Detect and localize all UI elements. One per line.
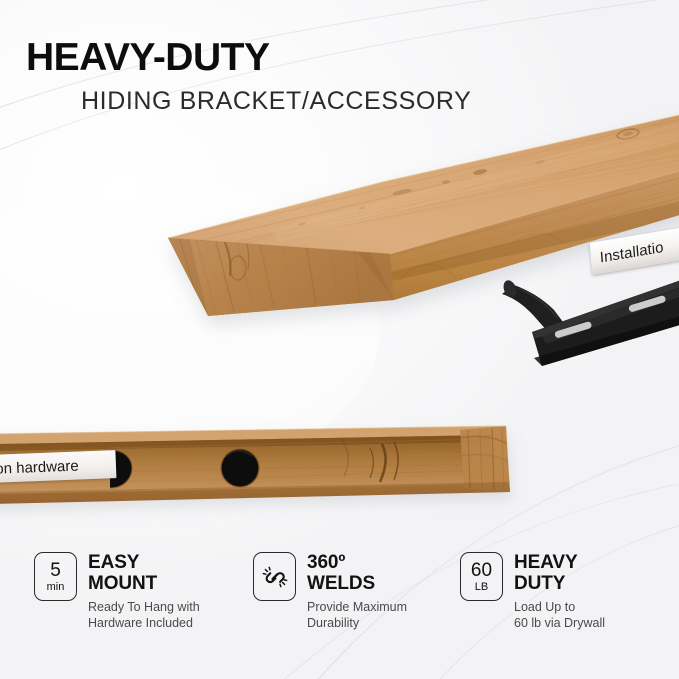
timer-badge-unit: min — [47, 582, 65, 593]
feature-title-line1: 360º — [307, 553, 407, 574]
headline-secondary: HIDING BRACKET/ACCESSORY — [81, 89, 471, 114]
feature-title-line2: WELDS — [307, 574, 407, 595]
feature-title-line2: DUTY — [514, 574, 605, 595]
timer-badge-value: 5 — [50, 561, 61, 580]
feature-desc-line1: Ready To Hang with — [88, 600, 200, 616]
headline-primary: HEAVY-DUTY — [26, 38, 471, 77]
feature-description: Provide Maximum Durability — [307, 600, 407, 631]
chain-link-weld-icon — [254, 553, 295, 600]
feature-heavy-duty: 60 LB HEAVY DUTY Load Up to 60 lb via Dr… — [460, 552, 660, 631]
feature-desc-line1: Load Up to — [514, 600, 605, 616]
weight-badge-value: 60 — [471, 561, 492, 580]
feature-desc-line1: Provide Maximum — [307, 600, 407, 616]
feature-title-line1: HEAVY — [514, 553, 605, 574]
feature-desc-line2: Durability — [307, 616, 407, 632]
product-marketing-image: HEAVY-DUTY HIDING BRACKET/ACCESSORY — [0, 0, 679, 679]
feature-description: Ready To Hang with Hardware Included — [88, 600, 200, 631]
feature-title-line2: MOUNT — [88, 574, 200, 595]
installation-label-lower: ion hardware — [0, 450, 116, 483]
installation-label-lower-text: ion hardware — [0, 457, 79, 477]
bracket-graphic — [501, 270, 679, 366]
feature-description: Load Up to 60 lb via Drywall — [514, 600, 605, 631]
weight-badge-unit: LB — [475, 582, 488, 593]
weight-badge: 60 LB — [460, 552, 503, 601]
feature-easy-mount: 5 min EASY MOUNT Ready To Hang with Hard… — [34, 552, 249, 631]
feature-easy-mount-text: EASY MOUNT Ready To Hang with Hardware I… — [88, 552, 200, 631]
feature-desc-line2: 60 lb via Drywall — [514, 616, 605, 632]
chain-link-weld-badge — [253, 552, 296, 601]
feature-desc-line2: Hardware Included — [88, 616, 200, 632]
timer-badge: 5 min — [34, 552, 77, 601]
feature-360-welds: 360º WELDS Provide Maximum Durability — [253, 552, 458, 631]
headline-block: HEAVY-DUTY HIDING BRACKET/ACCESSORY — [26, 38, 471, 114]
feature-title-line1: EASY — [88, 553, 200, 574]
feature-row: 5 min EASY MOUNT Ready To Hang with Hard… — [0, 552, 679, 631]
installation-label-upper-text: Installatio — [590, 238, 664, 267]
feature-360-welds-text: 360º WELDS Provide Maximum Durability — [307, 552, 407, 631]
feature-heavy-duty-text: HEAVY DUTY Load Up to 60 lb via Drywall — [514, 552, 605, 631]
